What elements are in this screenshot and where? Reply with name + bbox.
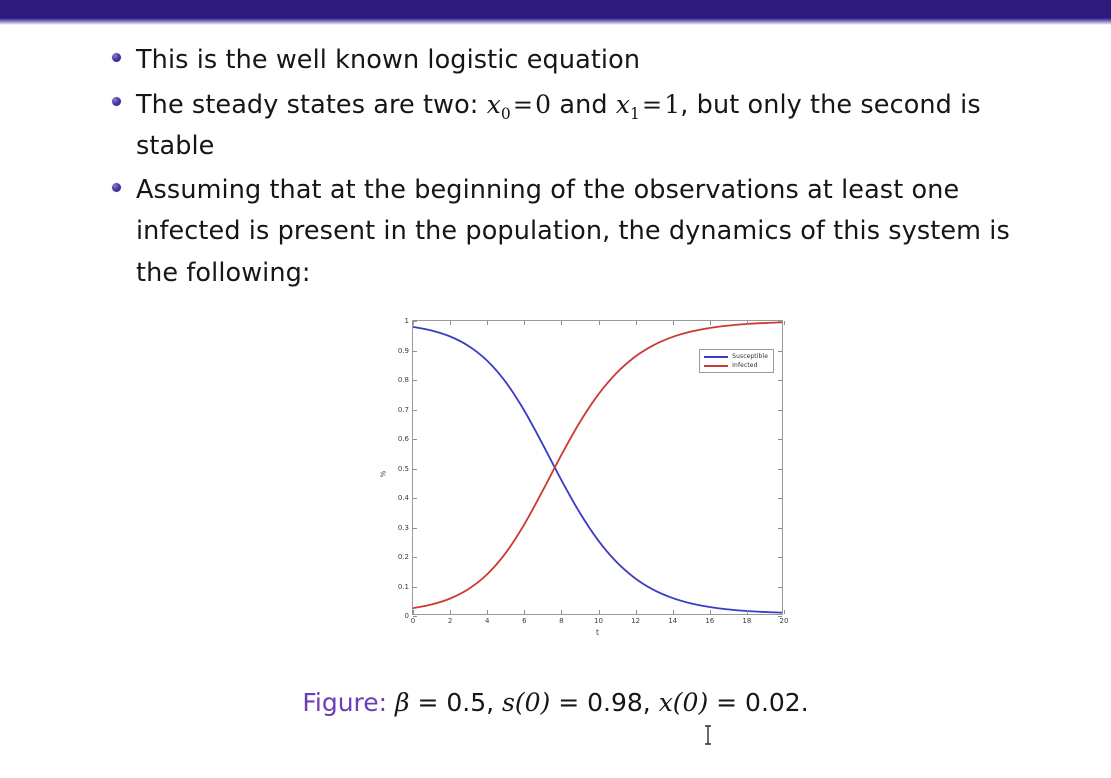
x-tick-label: 4 bbox=[485, 617, 489, 625]
y-tick-label: 0 bbox=[405, 612, 409, 620]
x-tick-label: 18 bbox=[742, 617, 751, 625]
math-zero: 0 bbox=[535, 90, 551, 119]
bullet-text-logistic-equation: This is the well known logistic equation bbox=[136, 40, 640, 82]
y-tick-right bbox=[778, 498, 782, 499]
caption-s0-symbol: s(0) bbox=[502, 688, 550, 717]
x-tick-label: 0 bbox=[411, 617, 415, 625]
chart-legend: Susceptible Infected bbox=[699, 349, 774, 373]
x-tick-top bbox=[636, 321, 637, 325]
y-axis-label: % bbox=[379, 471, 387, 478]
x-tick-label: 8 bbox=[559, 617, 563, 625]
y-tick-right bbox=[778, 410, 782, 411]
y-tick bbox=[413, 380, 417, 381]
bullet-text-assumption: Assuming that at the beginning of the ob… bbox=[136, 170, 1047, 295]
x-tick-label: 12 bbox=[631, 617, 640, 625]
legend-label-susceptible: Susceptible bbox=[732, 353, 768, 360]
legend-label-infected: Infected bbox=[732, 362, 757, 369]
bullet-dot-icon bbox=[112, 183, 121, 192]
caption-beta-value: = 0.5, bbox=[417, 688, 494, 717]
x-tick-top bbox=[784, 321, 785, 325]
bullet-dot-icon bbox=[112, 97, 121, 106]
caption-label: Figure: bbox=[302, 688, 387, 717]
x-tick-top bbox=[487, 321, 488, 325]
figure-caption: Figure: β = 0.5, s(0) = 0.98, x(0) = 0.0… bbox=[0, 688, 1111, 717]
math-x0: x0 bbox=[487, 90, 511, 119]
y-tick bbox=[413, 587, 417, 588]
y-tick-label: 1 bbox=[405, 317, 409, 325]
x-tick-top bbox=[413, 321, 414, 325]
y-tick bbox=[413, 439, 417, 440]
y-tick-label: 0.7 bbox=[398, 406, 409, 414]
x-tick-top bbox=[524, 321, 525, 325]
x-tick-top bbox=[710, 321, 711, 325]
x-tick bbox=[450, 610, 451, 614]
y-tick-right bbox=[778, 351, 782, 352]
x-tick bbox=[561, 610, 562, 614]
y-tick-label: 0.2 bbox=[398, 553, 409, 561]
y-tick-right bbox=[778, 469, 782, 470]
legend-entry-susceptible: Susceptible bbox=[704, 353, 768, 360]
x-tick bbox=[524, 610, 525, 614]
x-tick bbox=[784, 610, 785, 614]
caption-x0-value: = 0.02. bbox=[716, 688, 809, 717]
x-tick bbox=[710, 610, 711, 614]
x-tick-label: 20 bbox=[780, 617, 789, 625]
math-equals-1: = bbox=[511, 91, 535, 119]
caption-s0-value: = 0.98, bbox=[558, 688, 651, 717]
y-tick-label: 0.4 bbox=[398, 494, 409, 502]
y-tick-label: 0.3 bbox=[398, 524, 409, 532]
y-tick-label: 0.5 bbox=[398, 465, 409, 473]
y-tick-right bbox=[778, 439, 782, 440]
math-equals-2: = bbox=[640, 91, 664, 119]
caption-x0-symbol: x(0) bbox=[659, 688, 709, 717]
x-tick bbox=[636, 610, 637, 614]
x-axis-label: t bbox=[412, 628, 783, 637]
x-tick-top bbox=[673, 321, 674, 325]
slide-header-fade bbox=[0, 18, 1111, 25]
x-tick-label: 2 bbox=[448, 617, 452, 625]
legend-swatch-infected bbox=[704, 365, 728, 367]
y-tick bbox=[413, 528, 417, 529]
list-item: Assuming that at the beginning of the ob… bbox=[112, 170, 1047, 295]
list-item: The steady states are two: x0=0 and x1=1… bbox=[112, 84, 1047, 168]
y-tick-right bbox=[778, 321, 782, 322]
bullet-dot-icon bbox=[112, 53, 121, 62]
legend-entry-infected: Infected bbox=[704, 362, 768, 369]
list-item: This is the well known logistic equation bbox=[112, 40, 1047, 82]
bullet-text-steady-states: The steady states are two: x0=0 and x1=1… bbox=[136, 84, 1047, 168]
y-tick-right bbox=[778, 557, 782, 558]
y-tick-label: 0.9 bbox=[398, 347, 409, 355]
x-tick bbox=[673, 610, 674, 614]
math-x1: x1 bbox=[616, 90, 640, 119]
y-tick bbox=[413, 469, 417, 470]
y-tick-right bbox=[778, 528, 782, 529]
x-tick-top bbox=[450, 321, 451, 325]
y-tick bbox=[413, 557, 417, 558]
x-tick-label: 10 bbox=[594, 617, 603, 625]
x-tick-top bbox=[747, 321, 748, 325]
plot-area: Susceptible Infected 00.10.20.30.40.50.6… bbox=[412, 320, 783, 615]
text-ibeam-cursor bbox=[702, 725, 714, 745]
x-tick-top bbox=[561, 321, 562, 325]
y-tick-right bbox=[778, 587, 782, 588]
x-tick-label: 16 bbox=[705, 617, 714, 625]
math-one: 1 bbox=[664, 90, 680, 119]
x-tick-label: 14 bbox=[668, 617, 677, 625]
x-tick bbox=[487, 610, 488, 614]
y-tick bbox=[413, 351, 417, 352]
slide-header-bar bbox=[0, 0, 1111, 18]
x-tick bbox=[747, 610, 748, 614]
figure-plot: % Susceptible Infected 00.10.20.30.40.50… bbox=[378, 306, 790, 642]
y-tick-right bbox=[778, 380, 782, 381]
x-tick-label: 6 bbox=[522, 617, 526, 625]
y-tick bbox=[413, 410, 417, 411]
legend-swatch-susceptible bbox=[704, 356, 728, 358]
x-tick bbox=[413, 610, 414, 614]
bullet-list: This is the well known logistic equation… bbox=[112, 40, 1047, 296]
y-tick-label: 0.6 bbox=[398, 435, 409, 443]
caption-beta-symbol: β bbox=[395, 688, 409, 717]
y-tick-label: 0.1 bbox=[398, 583, 409, 591]
y-tick-label: 0.8 bbox=[398, 376, 409, 384]
y-tick bbox=[413, 498, 417, 499]
x-tick-top bbox=[599, 321, 600, 325]
x-tick bbox=[599, 610, 600, 614]
